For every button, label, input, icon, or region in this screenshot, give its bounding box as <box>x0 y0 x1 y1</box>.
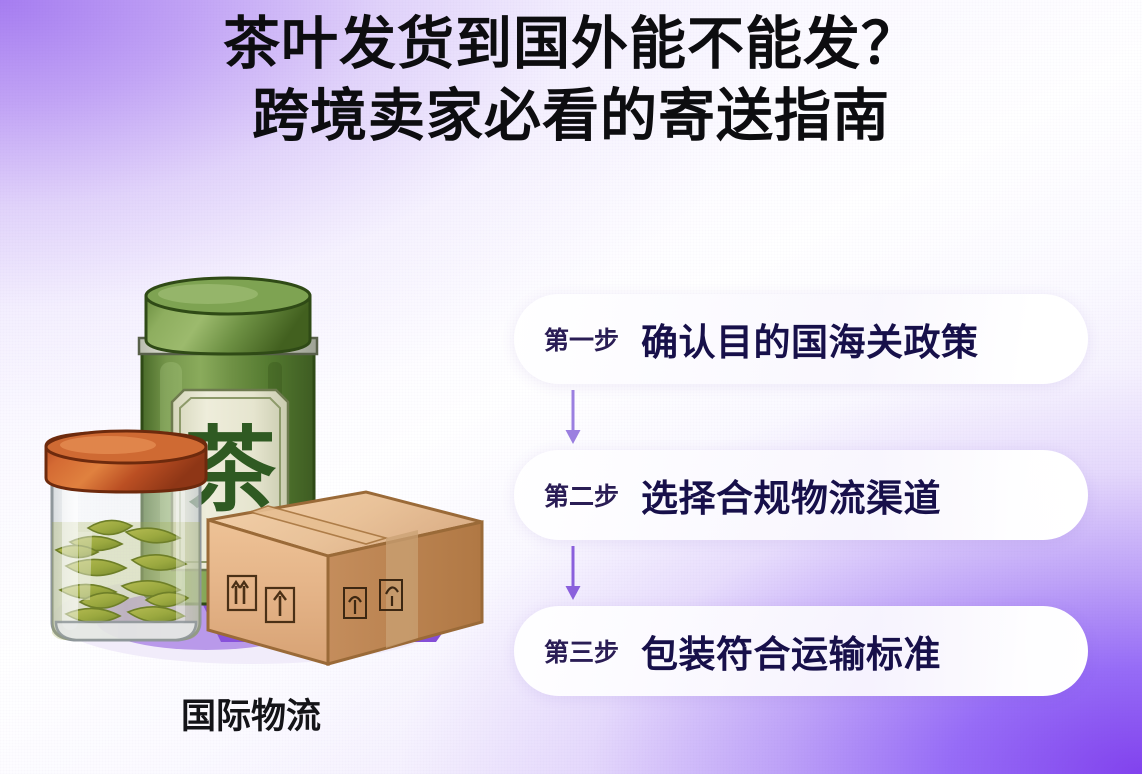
poster-canvas: 茶叶发货到国外能不能发？ 跨境卖家必看的寄送指南 <box>0 0 1142 774</box>
illustration-caption: 国际物流 <box>36 694 466 740</box>
step-index-1: 第一步 <box>544 321 619 357</box>
step-index-2: 第二步 <box>544 477 619 513</box>
arrow-down-icon <box>558 540 588 606</box>
glass-jar-illustration <box>46 431 206 642</box>
step-pill-3[interactable]: 第三步 包装符合运输标准 <box>514 606 1088 696</box>
step-connector-1 <box>558 384 1088 450</box>
arrow-down-icon <box>558 384 588 450</box>
step-pill-1[interactable]: 第一步 确认目的国海关政策 <box>514 294 1088 384</box>
step-pill-2[interactable]: 第二步 选择合规物流渠道 <box>514 450 1088 540</box>
step-index-3: 第三步 <box>544 633 619 669</box>
steps-flow: 第一步 确认目的国海关政策 第二步 选择合规物流渠道 第三步 包装符合运输标准 <box>514 294 1088 696</box>
step-connector-2 <box>558 540 1088 606</box>
title-line-2: 跨境卖家必看的寄送指南 <box>0 80 1142 152</box>
logistics-illustration: 茶 <box>36 270 506 690</box>
step-text-2: 选择合规物流渠道 <box>641 468 941 522</box>
step-text-3: 包装符合运输标准 <box>641 624 941 678</box>
cardboard-box-illustration <box>208 492 482 664</box>
title-line-1: 茶叶发货到国外能不能发？ <box>0 8 1142 80</box>
step-text-1: 确认目的国海关政策 <box>641 312 979 366</box>
poster-title: 茶叶发货到国外能不能发？ 跨境卖家必看的寄送指南 <box>0 8 1142 152</box>
